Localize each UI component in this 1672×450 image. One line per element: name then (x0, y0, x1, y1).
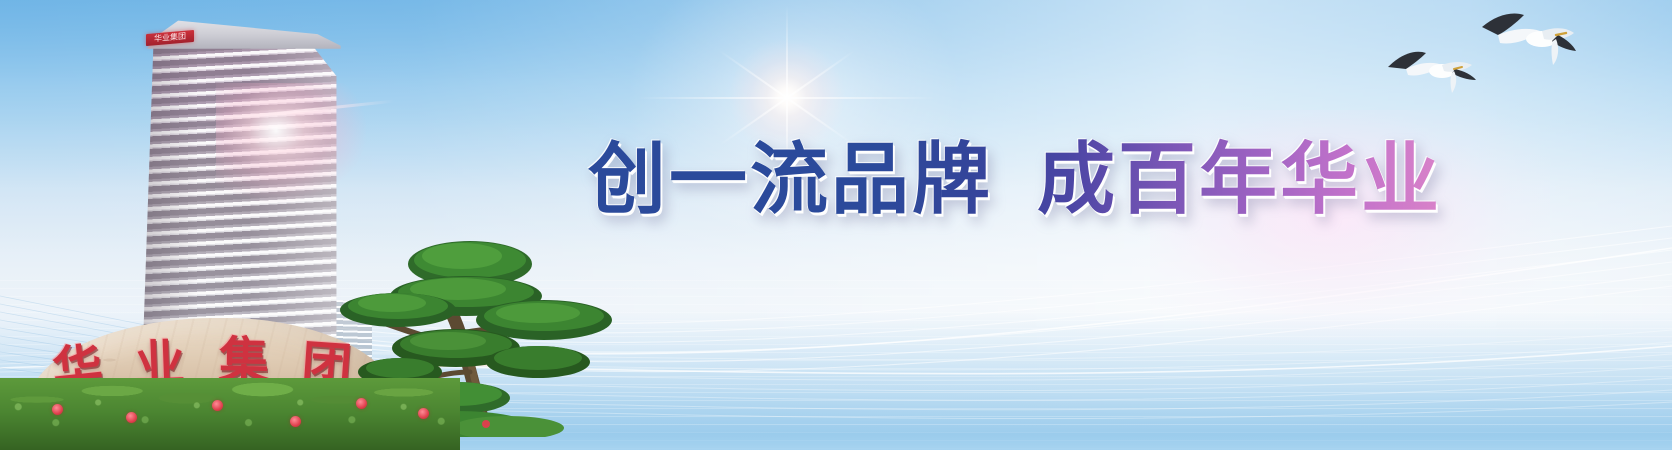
hedge-flower (356, 398, 367, 409)
company-hero-banner: 华业集团 华 业 集 团 (0, 0, 1672, 450)
hedge-flower (126, 412, 137, 423)
hedge-flower (52, 404, 63, 415)
hedge-flower (418, 408, 429, 419)
garden-hedge (0, 378, 460, 450)
hedge-flower (290, 416, 301, 427)
hedge-flower (212, 400, 223, 411)
hedge-foliage-texture (0, 378, 460, 450)
